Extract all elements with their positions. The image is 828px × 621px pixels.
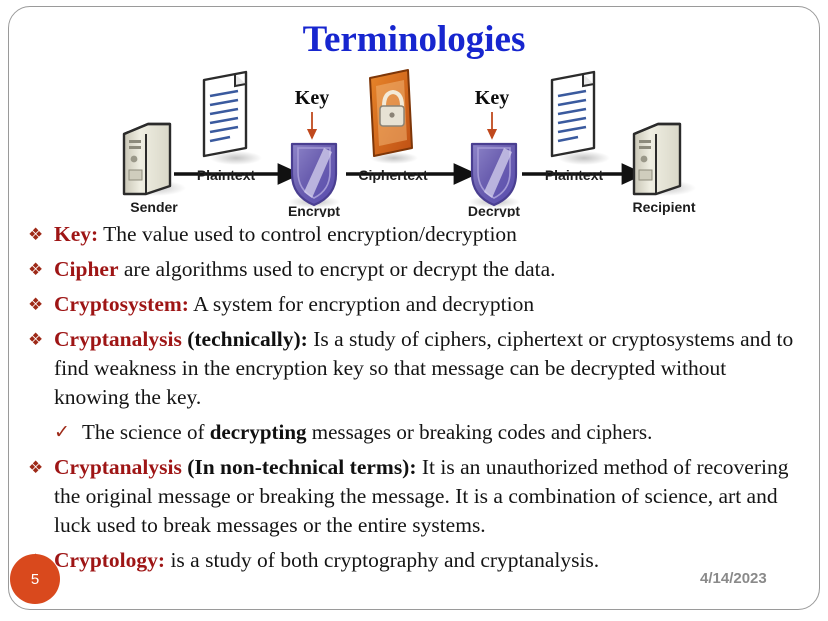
list-item: ❖Cryptosystem: A system for encryption a… bbox=[26, 290, 806, 319]
diagram-label-key-1: Key bbox=[295, 87, 329, 109]
term-label: Cryptanalysis bbox=[54, 327, 182, 351]
list-item: ❖Cryptanalysis (In non-technical terms):… bbox=[26, 453, 806, 540]
bullet-diamond-icon: ❖ bbox=[28, 325, 43, 354]
slide-number-badge: 5 bbox=[10, 554, 60, 604]
term-description: are algorithms used to encrypt or decryp… bbox=[119, 257, 556, 281]
diagram-label-plaintext-1: Plaintext bbox=[197, 167, 256, 183]
encryption-flow-diagram: Sender Plaintext Key bbox=[108, 62, 708, 217]
term-description: is a study of both cryptography and cryp… bbox=[165, 548, 599, 572]
bullet-diamond-icon: ❖ bbox=[28, 453, 43, 482]
sub-text-post: messages or breaking codes and ciphers. bbox=[307, 420, 653, 444]
term-qualifier: (In non-technical terms): bbox=[182, 455, 417, 479]
diagram-label-recipient: Recipient bbox=[632, 199, 695, 215]
slide-canvas: Terminologies bbox=[0, 0, 828, 621]
list-item: ❖Cryptanalysis (technically): Is a study… bbox=[26, 325, 806, 412]
shield-icon-decrypt bbox=[468, 144, 520, 208]
server-icon-sender bbox=[122, 124, 186, 196]
sub-text-pre: The science of bbox=[82, 420, 210, 444]
term-qualifier: (technically): bbox=[182, 327, 308, 351]
document-icon-plaintext-1 bbox=[204, 72, 262, 165]
list-item: ❖Cryptology: is a study of both cryptogr… bbox=[26, 546, 806, 575]
diagram-label-decrypt: Decrypt bbox=[468, 203, 520, 217]
diagram-label-encrypt: Encrypt bbox=[288, 203, 340, 217]
locked-document-icon-ciphertext bbox=[370, 70, 418, 164]
server-icon-recipient bbox=[632, 124, 696, 196]
diagram-label-ciphertext: Ciphertext bbox=[358, 167, 428, 183]
diagram-label-key-2: Key bbox=[475, 87, 509, 109]
bullet-diamond-icon: ❖ bbox=[28, 255, 43, 284]
list-item: ❖Key: The value used to control encrypti… bbox=[26, 220, 806, 249]
term-description: The value used to control encryption/dec… bbox=[98, 222, 517, 246]
document-icon-plaintext-2 bbox=[552, 72, 610, 165]
term-label: Key: bbox=[54, 222, 98, 246]
list-item: ❖Cipher are algorithms used to encrypt o… bbox=[26, 255, 806, 284]
page-title: Terminologies bbox=[0, 18, 828, 61]
term-description: A system for encryption and decryption bbox=[189, 292, 534, 316]
sub-list-item: ✓The science of decrypting messages or b… bbox=[26, 418, 806, 447]
diagram-label-plaintext-2: Plaintext bbox=[545, 167, 604, 183]
bullet-diamond-icon: ❖ bbox=[28, 290, 43, 319]
check-icon: ✓ bbox=[54, 418, 70, 447]
diagram-label-sender: Sender bbox=[130, 199, 178, 215]
term-label: Cipher bbox=[54, 257, 119, 281]
shield-icon-encrypt bbox=[288, 144, 340, 208]
sub-text-emphasis: decrypting bbox=[210, 420, 307, 444]
term-label: Cryptology: bbox=[54, 548, 165, 572]
term-label: Cryptanalysis bbox=[54, 455, 182, 479]
terminology-list: ❖Key: The value used to control encrypti… bbox=[26, 220, 806, 581]
footer-date: 4/14/2023 bbox=[700, 570, 767, 587]
term-label: Cryptosystem: bbox=[54, 292, 189, 316]
bullet-diamond-icon: ❖ bbox=[28, 220, 43, 249]
